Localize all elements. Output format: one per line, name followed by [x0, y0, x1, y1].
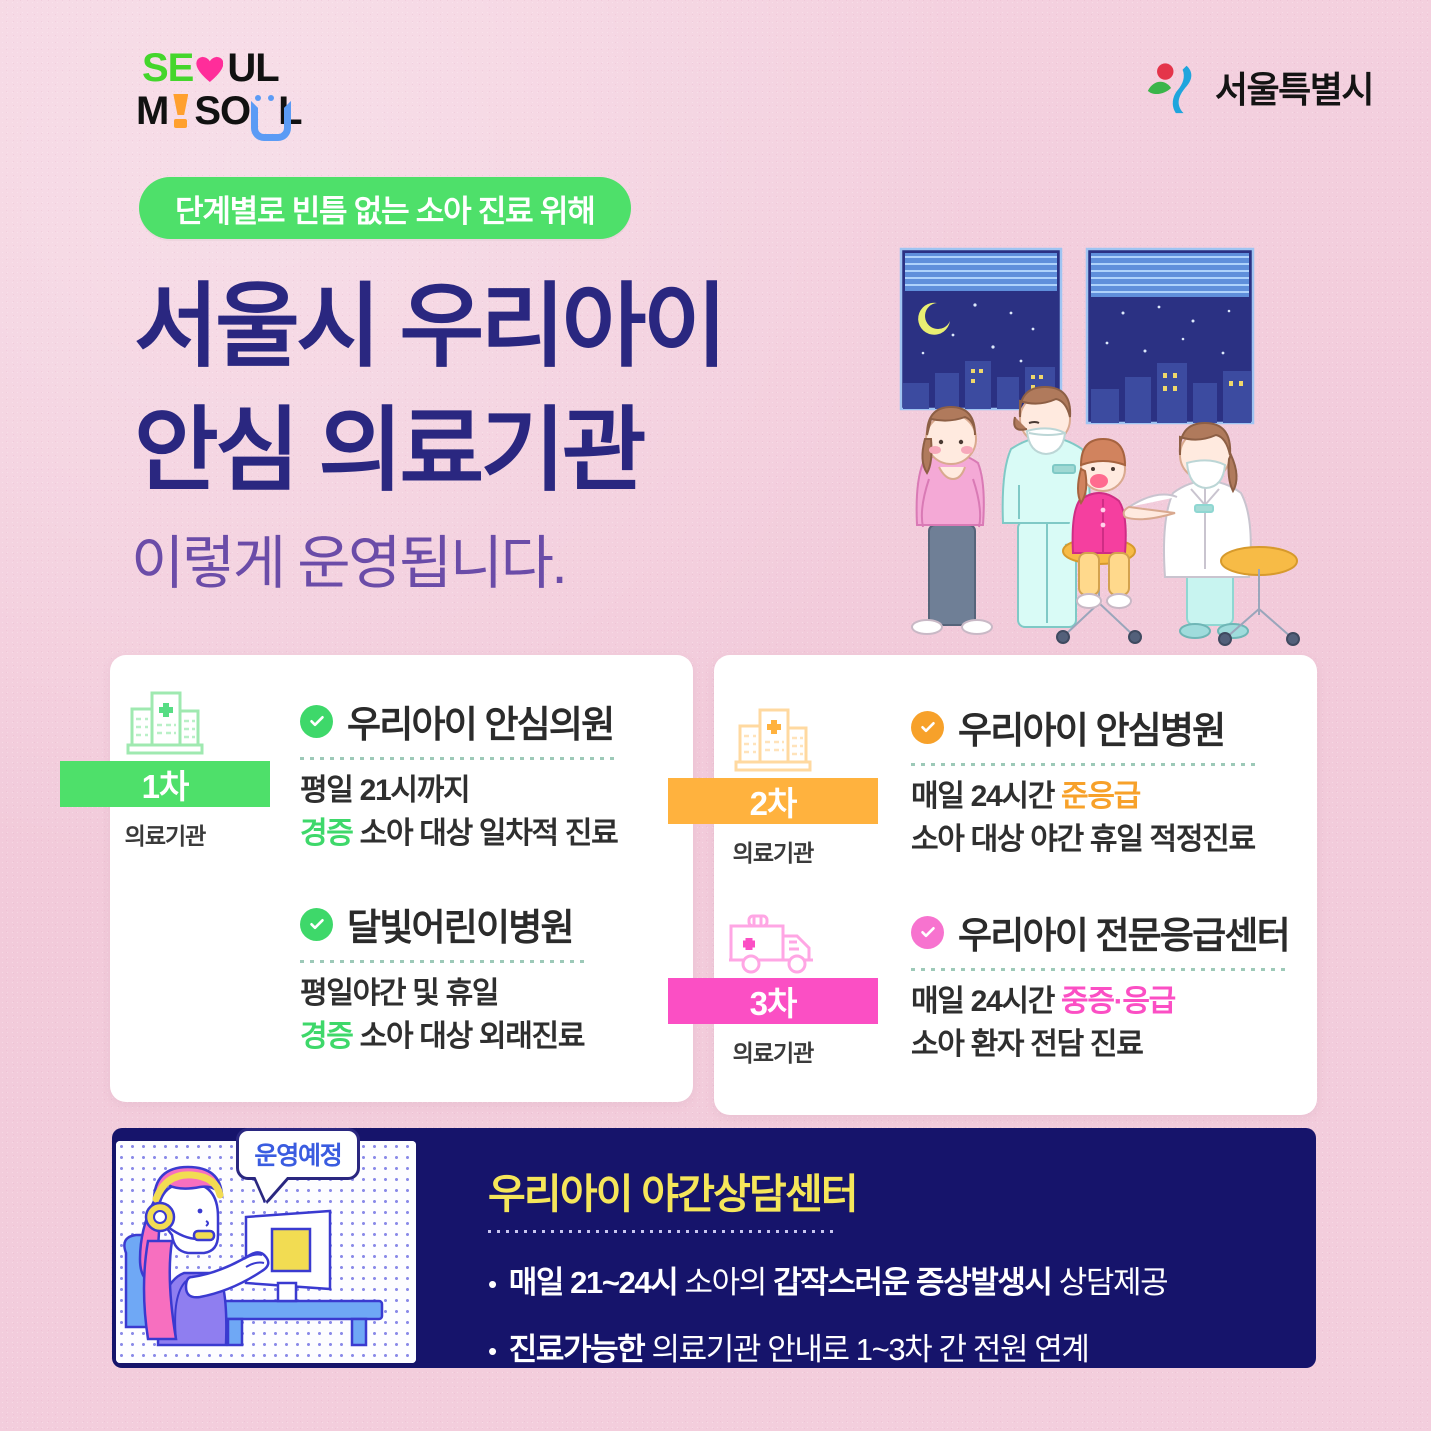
tier-entry-line-2-rest: 소아 대상 외래진료 [353, 1020, 585, 1053]
page-title-line-2: 안심 의료기관 [134, 405, 643, 497]
clinic-consultation-illustration [893, 243, 1313, 653]
divider-dotted [911, 968, 1289, 971]
panel-bullet-2-text: 진료가능한 의료기관 안내로 1~3차 간 전원 연계 [509, 1324, 1089, 1369]
poster-header: SE UL M SO L 서울특별시 [0, 0, 1431, 150]
panel-bullet-1: • 매일 21~24시 소아의 갑작스러운 증상발생시 상담제공 [488, 1257, 1296, 1302]
tier-entry-heading: 우리아이 안심의원 [300, 694, 617, 748]
tier-entry-title: 우리아이 안심병원 [958, 700, 1224, 754]
hospital-building-icon [668, 700, 878, 778]
smile-u-icon [251, 95, 277, 127]
tier-entry-line-1-plain: 매일 24시간 [911, 985, 1061, 1018]
tier-badge-sublabel-3: 의료기관 [668, 1034, 878, 1068]
severity-highlight: 중증·응급 [1061, 985, 1175, 1018]
bullet-strong-c: 진료가능한 [509, 1332, 645, 1367]
panel-bullet-1-text: 매일 21~24시 소아의 갑작스러운 증상발생시 상담제공 [509, 1257, 1168, 1302]
logo-line-mysoul: M SO L [136, 91, 376, 131]
tier-badge-3: 3차 [668, 978, 878, 1024]
logo-letters-ul: UL [227, 48, 278, 88]
severity-highlight: 경증 [300, 1020, 353, 1053]
tier-entry-anshim-uiwon: 우리아이 안심의원 평일 21시까지 경증 소아 대상 일차적 진료 [300, 694, 617, 855]
tier-entry-heading: 우리아이 안심병원 [911, 700, 1255, 754]
heart-icon [194, 53, 226, 83]
tier-entry-emergency-center: 우리아이 전문응급센터 매일 24시간 중증·응급 소아 환자 전담 진료 [911, 905, 1289, 1066]
ambulance-icon [668, 900, 878, 978]
severity-highlight: 준응급 [1061, 780, 1140, 813]
tier-entry-line-2: 소아 환자 전담 진료 [911, 1024, 1289, 1067]
check-icon [911, 916, 944, 949]
tier-entry-heading: 달빛어린이병원 [300, 897, 584, 951]
tier-entry-line-2: 경증 소아 대상 일차적 진료 [300, 813, 617, 856]
bullet-strong-b: 갑작스러운 증상발생시 [773, 1265, 1051, 1300]
tier-mark-2: 2차 의료기관 [668, 700, 878, 868]
panel-bullet-2: • 진료가능한 의료기관 안내로 1~3차 간 전원 연계 [488, 1324, 1296, 1369]
tier-badge-sublabel-2: 의료기관 [668, 834, 878, 868]
page-subtitle: 이렇게 운영됩니다. [131, 535, 565, 593]
hospital-building-icon [60, 683, 270, 761]
logo-letters-so: SO [194, 91, 250, 131]
poster-canvas: SE UL M SO L 서울특별시 단계별로 빈틈 없는 소아 진료 위해 서… [0, 0, 1431, 1431]
tier-entry-line-2: 소아 대상 야간 휴일 적정진료 [911, 819, 1255, 862]
bullet-mid-a: 소아의 [677, 1265, 773, 1300]
tier-entry-line-1-plain: 매일 24시간 [911, 780, 1061, 813]
bullet-mid-b: 의료기관 안내로 1~3차 간 전원 연계 [644, 1332, 1088, 1367]
tier-entry-line-1: 매일 24시간 준응급 [911, 776, 1255, 819]
status-badge-planned: 운영예정 [236, 1128, 360, 1180]
tier-entry-line-1: 평일야간 및 휴일 [300, 973, 584, 1016]
logo-line-seoul: SE UL [142, 48, 376, 88]
tier-entry-line-2: 경증 소아 대상 외래진료 [300, 1016, 584, 1059]
tier-entry-line-1: 평일 21시까지 [300, 770, 617, 813]
seoul-city-logo: 서울특별시 [1144, 58, 1373, 116]
tier-entry-title: 달빛어린이병원 [347, 897, 573, 951]
severity-highlight: 경증 [300, 817, 353, 850]
tier-badge-1: 1차 [60, 761, 270, 807]
tier-badge-2: 2차 [668, 778, 878, 824]
logo-letter-m: M [136, 91, 168, 131]
bullet-strong-a: 매일 21~24시 [509, 1265, 678, 1300]
exclamation-icon [171, 94, 191, 128]
seoul-city-emblem-icon [1144, 58, 1202, 116]
seoul-city-logo-label: 서울특별시 [1215, 61, 1373, 113]
logo-letters-se: SE [142, 48, 193, 88]
panel-divider-dotted [488, 1230, 833, 1233]
tier-entry-title: 우리아이 전문응급센터 [958, 905, 1289, 959]
tier-entry-line-1: 매일 24시간 중증·응급 [911, 981, 1289, 1024]
divider-dotted [300, 757, 617, 760]
tier-badge-sublabel-1: 의료기관 [60, 817, 270, 851]
check-icon [300, 908, 333, 941]
panel-title: 우리아이 야간상담센터 [488, 1160, 1296, 1220]
tier-entry-anshim-byungwon: 우리아이 안심병원 매일 24시간 준응급 소아 대상 야간 휴일 적정진료 [911, 700, 1255, 861]
divider-dotted [300, 960, 584, 963]
tier-mark-3: 3차 의료기관 [668, 900, 878, 1068]
tier-entry-dalbit-hospital: 달빛어린이병원 평일야간 및 휴일 경증 소아 대상 외래진료 [300, 897, 584, 1058]
seoul-my-soul-logo: SE UL M SO L [136, 48, 376, 138]
tier-entry-heading: 우리아이 전문응급센터 [911, 905, 1289, 959]
page-title-line-1: 서울시 우리아이 [134, 281, 724, 373]
bullet-tail-a: 상담제공 [1052, 1265, 1168, 1300]
hero-tagline-pill: 단계별로 빈틈 없는 소아 진료 위해 [139, 177, 631, 239]
check-icon [300, 705, 333, 738]
check-icon [911, 711, 944, 744]
divider-dotted [911, 763, 1255, 766]
tier-mark-1: 1차 의료기관 [60, 683, 270, 851]
bullet-dot-icon: • [488, 1271, 496, 1297]
panel-text-block: 우리아이 야간상담센터 • 매일 21~24시 소아의 갑작스러운 증상발생시 … [488, 1160, 1296, 1391]
tier-entry-title: 우리아이 안심의원 [347, 694, 613, 748]
bullet-dot-icon: • [488, 1338, 496, 1364]
tier-entry-line-2-rest: 소아 대상 일차적 진료 [353, 817, 618, 850]
